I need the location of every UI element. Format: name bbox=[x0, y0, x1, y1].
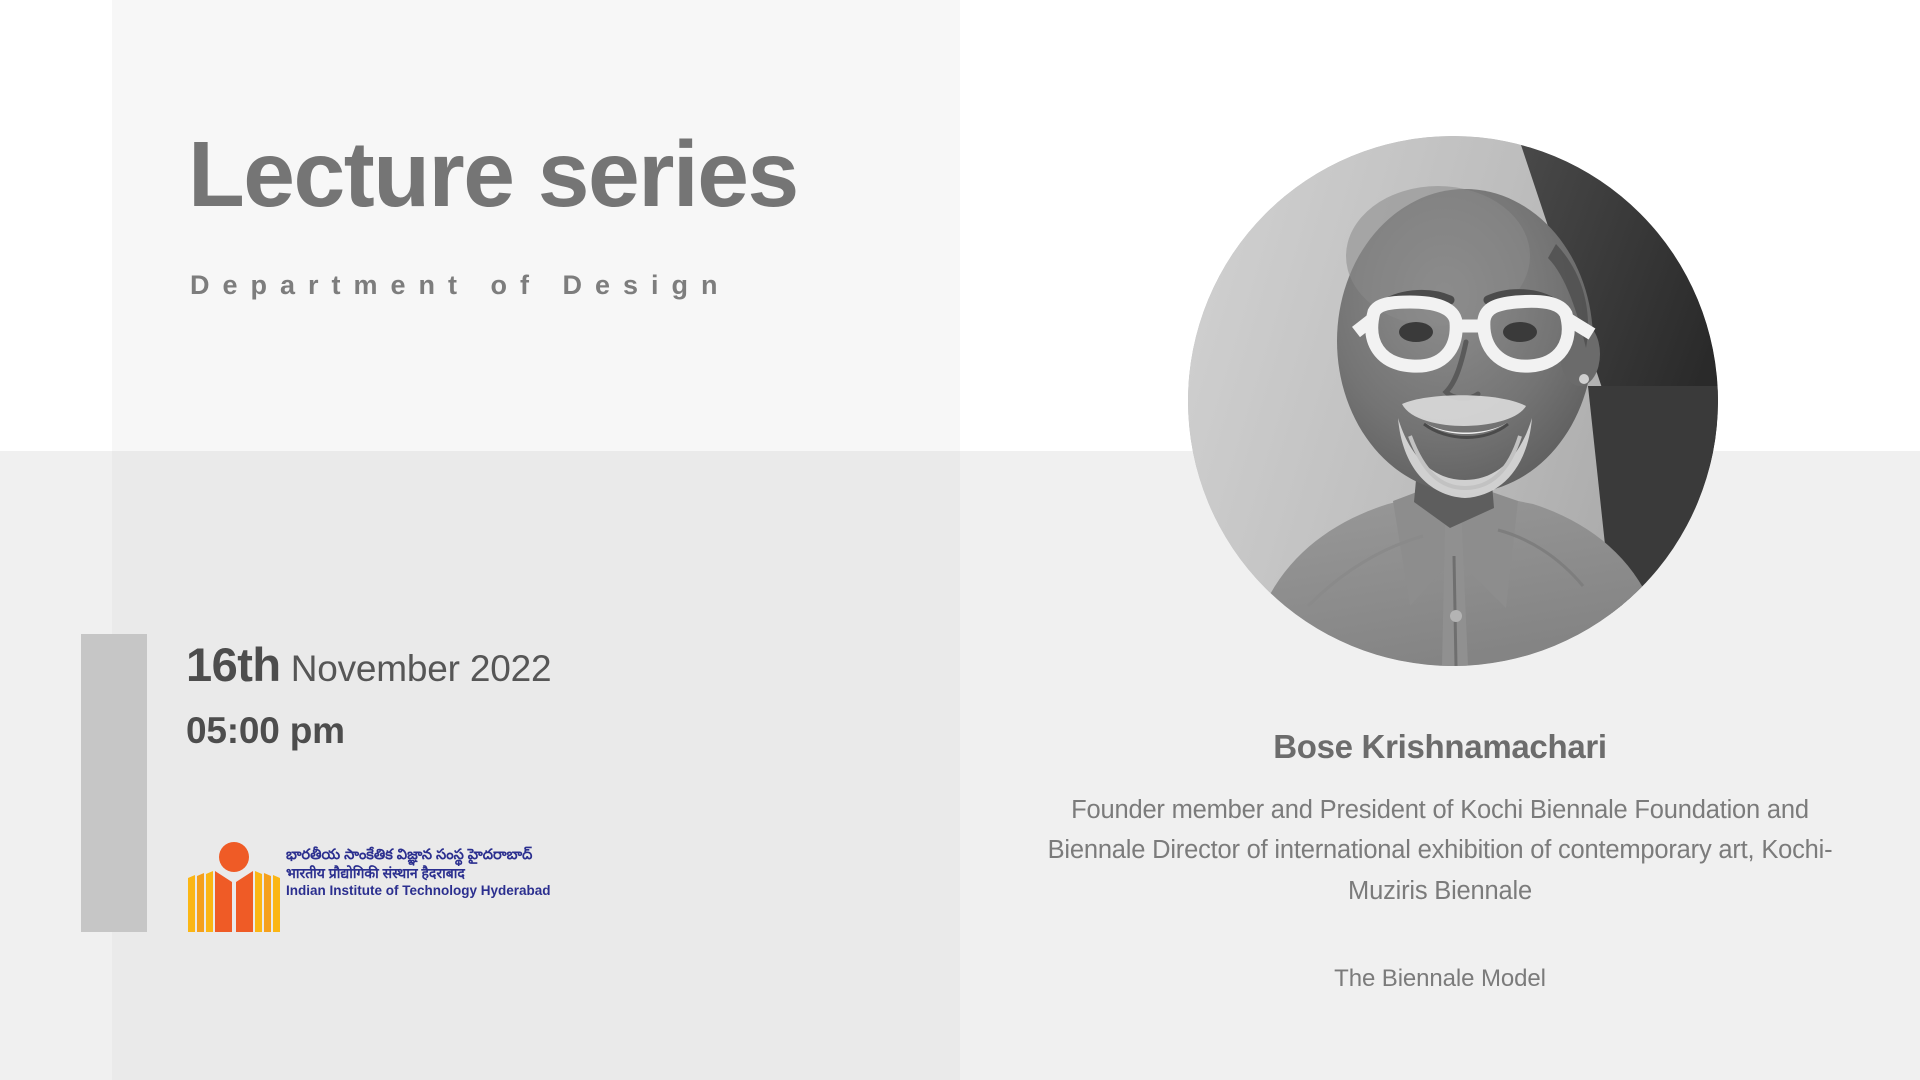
speaker-portrait bbox=[1188, 136, 1718, 666]
background-panel-lower-left bbox=[112, 451, 960, 1080]
event-date: 16th November 2022 bbox=[186, 637, 551, 692]
logo-text-hindi: भारतीय प्रौद्योगिकी संस्थान हैदराबाद bbox=[286, 865, 526, 883]
page-title: Lecture series bbox=[188, 126, 798, 224]
logo-text-telugu: భారతీయ సాంకేతిక విజ్ఞాన సంస్థ హైదరాబాద్ bbox=[286, 846, 526, 865]
event-date-day: 16th bbox=[186, 638, 281, 691]
speaker-bio: Founder member and President of Kochi Bi… bbox=[1020, 790, 1860, 911]
open-book-logo-icon bbox=[186, 838, 282, 934]
iit-hyderabad-logo: భారతీయ సాంకేతిక విజ్ఞాన సంస్థ హైదరాబాద్ … bbox=[186, 838, 516, 938]
date-accent-bar bbox=[81, 634, 147, 932]
event-date-month-year: November 2022 bbox=[281, 648, 552, 689]
talk-title: The Biennale Model bbox=[960, 965, 1920, 993]
event-time: 05:00 pm bbox=[186, 710, 345, 752]
speaker-name: Bose Krishnamachari bbox=[960, 728, 1920, 766]
iit-hyderabad-logo-text: భారతీయ సాంకేతిక విజ్ఞాన సంస్థ హైదరాబాద్ … bbox=[286, 846, 526, 900]
lecture-series-poster: Lecture series Department of Design 16th… bbox=[0, 0, 1920, 1080]
logo-text-english: Indian Institute of Technology Hyderabad bbox=[286, 882, 526, 899]
department-subtitle: Department of Design bbox=[190, 270, 731, 301]
